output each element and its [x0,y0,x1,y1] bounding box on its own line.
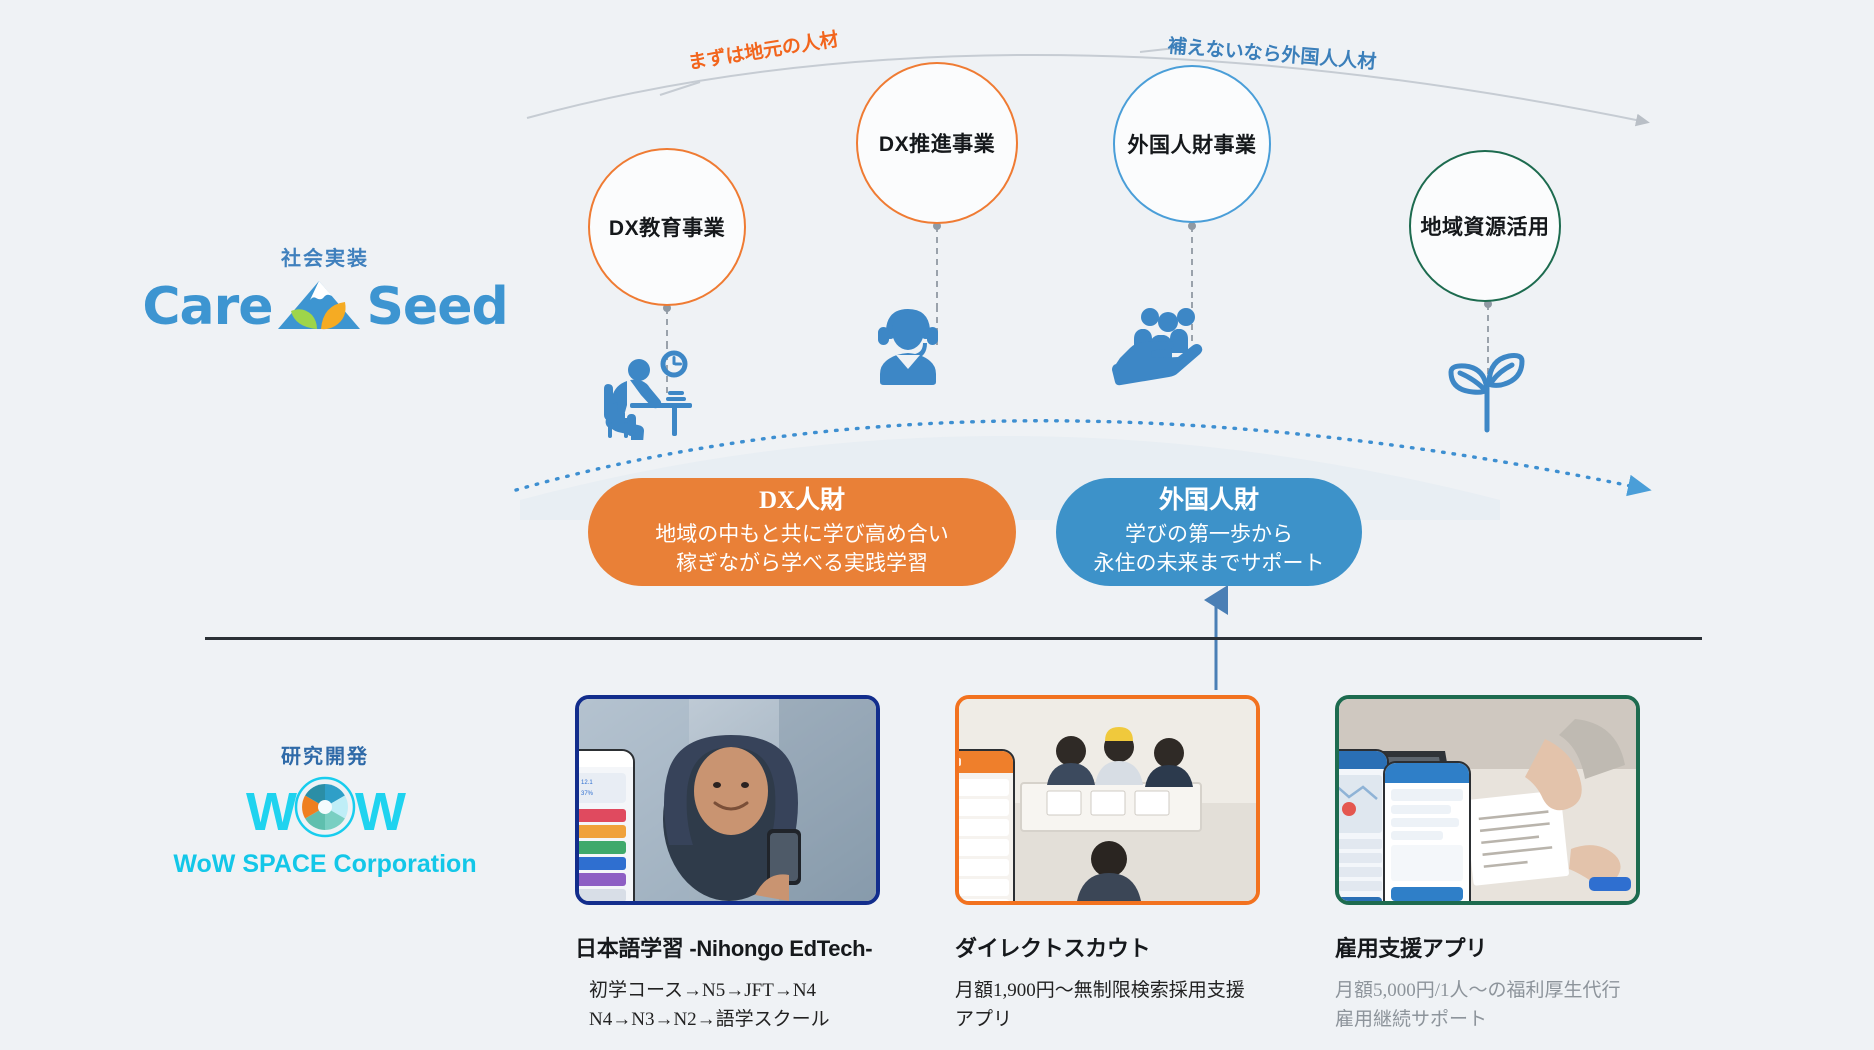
product-card-koyo[interactable]: 雇用支援アプリ 月額5,000円/1人〜の福利厚生代行 雇用継続サポート [1335,695,1640,1034]
product-desc-scout-line1: 月額1,900円〜無制限検索採用支援 [955,977,1260,1006]
circle-dx-promotion[interactable]: DX推進事業 [856,62,1018,224]
product-desc-koyo: 月額5,000円/1人〜の福利厚生代行 雇用継続サポート [1335,977,1640,1034]
diagram-canvas: まずは地元の人材 補えないなら外国人人材 DX教育事業 DX推進事業 外国人財事… [0,0,1874,1050]
pill-foreign-line2: 永住の未来までサポート [1094,549,1325,578]
wow-letter-w-left: W [246,785,295,839]
product-card-scout[interactable]: ダイレクトスカウト 月額1,900円〜無制限検索採用支援 アプリ [955,695,1260,1034]
care-seed-word-right: Seed [366,281,507,333]
wow-space-kicker: 研究開発 [160,740,490,769]
product-title-koyo: 雇用支援アプリ [1335,931,1640,963]
product-photo-scout [955,695,1260,905]
mountain-leaf-icon [276,277,362,336]
curve-label-local-talent: まずは地元の人材 [686,24,840,74]
product-desc-koyo-line2: 雇用継続サポート [1335,1006,1640,1035]
phone-mockup-nihongo: 12.1 37% [575,749,635,905]
product-desc-nihongo-line2: N4→N3→N2→語学スクール [589,1006,880,1035]
pill-dx-talent[interactable]: DX人財 地域の中もと共に学び高め合い 稼ぎながら学べる実践学習 [588,478,1016,586]
wow-space-corporation-name: WoW SPACE Corporation [160,850,490,879]
phone-mockup-koyo-right [1383,761,1471,905]
pill-dx-title: DX人財 [759,486,845,516]
circle-local-resource-label: 地域資源活用 [1421,211,1550,241]
pill-foreign-talent[interactable]: 外国人財 学びの第一歩から 永住の未来までサポート [1056,478,1362,586]
headset-support-agent-icon [866,305,950,392]
product-photo-nihongo: 12.1 37% [575,695,880,905]
product-desc-koyo-line1: 月額5,000円/1人〜の福利厚生代行 [1335,977,1640,1006]
pill-foreign-title: 外国人財 [1159,486,1259,516]
wow-letter-w-right: W [355,785,404,839]
care-seed-logo: Care Seed [160,277,490,336]
product-title-scout: ダイレクトスカウト [955,931,1260,963]
circle-dx-education[interactable]: DX教育事業 [588,148,746,306]
care-seed-word-left: Care [142,281,272,333]
care-seed-kicker: 社会実装 [160,242,490,271]
circle-dx-education-label: DX教育事業 [609,212,725,242]
product-desc-scout-line2: アプリ [955,1006,1260,1035]
pill-dx-line1: 地域の中もと共に学び高め合い [655,520,949,549]
circle-foreign-hr[interactable]: 外国人財事業 [1113,65,1271,223]
wow-space-logo: W W [160,775,490,848]
product-desc-nihongo: 初学コース→N5→JFT→N4 N4→N3→N2→語学スクール [575,977,880,1034]
product-card-nihongo[interactable]: 12.1 37% 日本語学習 -Nihongo EdTech- 初学コース→N5… [575,695,880,1034]
phone-mockup-scout [955,749,1015,905]
pill-dx-line2: 稼ぎながら学べる実践学習 [676,549,928,578]
product-desc-nihongo-line1: 初学コース→N5→JFT→N4 [589,977,880,1006]
hand-holding-people-icon [1110,300,1214,391]
person-studying-at-desk-icon [586,340,694,445]
circle-foreign-hr-label: 外国人財事業 [1128,129,1257,159]
product-title-nihongo: 日本語学習 -Nihongo EdTech- [575,931,880,963]
svg-text:37%: 37% [581,791,594,797]
phone-mockup-koyo-left [1335,749,1389,905]
camera-aperture-icon [293,775,357,848]
product-desc-scout: 月額1,900円〜無制限検索採用支援 アプリ [955,977,1260,1034]
svg-text:12.1: 12.1 [581,780,593,786]
circle-local-resource[interactable]: 地域資源活用 [1409,150,1561,302]
product-photo-koyo [1335,695,1640,905]
pill-foreign-line1: 学びの第一歩から [1125,520,1293,549]
brand-wow-space: 研究開発 W W Wo [160,740,490,879]
circle-dx-promotion-label: DX推進事業 [879,128,995,158]
sprout-seedling-icon [1440,338,1532,439]
brand-care-seed: 社会実装 Care Seed [160,242,490,336]
section-divider [205,637,1702,640]
